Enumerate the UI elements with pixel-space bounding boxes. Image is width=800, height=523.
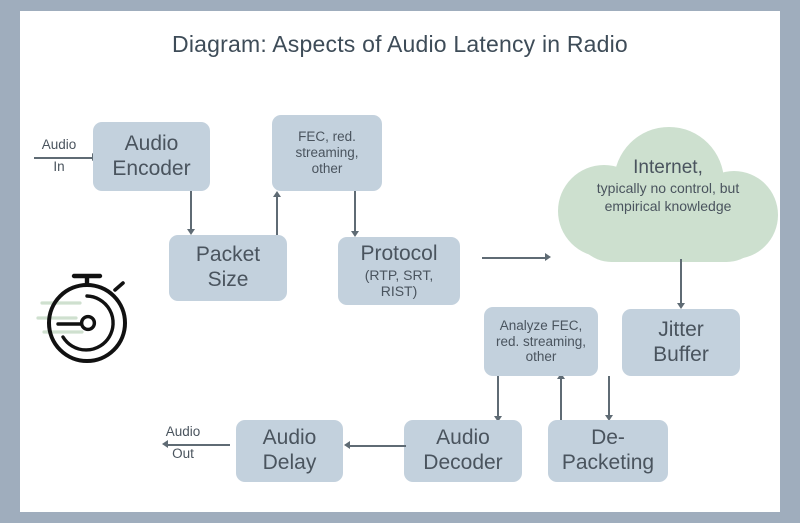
cloud-text: Internet, typically no control, but empi… [558,157,778,215]
connector-analyzefec-to-audiodecoder [497,376,499,418]
audio-in-label: Audio [31,137,87,153]
diagram-frame: Diagram: Aspects of Audio Latency in Rad… [0,0,800,523]
analyze-fec-line1: Analyze FEC, [500,318,583,334]
node-audio-encoder[interactable]: Audio Encoder [93,122,210,191]
audio-encoder-line1: Audio [125,132,179,157]
protocol-line2: (RTP, SRT, [365,267,433,284]
connector-audiodecoder-to-audiodelay [350,445,406,447]
node-internet-cloud[interactable]: Internet, typically no control, but empi… [558,127,778,262]
arrowhead-audiodecoder-to-audiodelay [344,441,350,449]
audio-out-label-2: Out [155,446,211,462]
audio-in-label-2: In [31,159,87,175]
connector-fec-to-protocol [354,191,356,233]
audio-delay-line2: Delay [263,451,317,476]
connector-jitterbuffer-to-depacketing [608,376,610,417]
audio-delay-line1: Audio [263,426,317,451]
analyze-fec-line2: red. streaming, [496,334,586,350]
audio-out-line2: Out [155,446,211,462]
node-jitter-buffer[interactable]: Jitter Buffer [622,309,740,376]
connector-depacketing-to-analyzefec [560,379,562,420]
de-packeting-line1: De- [591,426,625,451]
node-fec-options[interactable]: FEC, red. streaming, other [272,115,382,191]
page-title: Diagram: Aspects of Audio Latency in Rad… [20,31,780,58]
node-audio-decoder[interactable]: Audio Decoder [404,420,522,482]
connector-protocol-to-internet [482,257,546,259]
jitter-buffer-line2: Buffer [653,343,709,368]
analyze-fec-line3: other [526,349,557,365]
packet-size-line2: Size [208,268,249,293]
arrowhead-protocol-to-internet [545,253,551,261]
node-analyze-fec[interactable]: Analyze FEC, red. streaming, other [484,307,598,376]
internet-line3: empirical knowledge [558,197,778,215]
audio-out-label: Audio [155,424,211,440]
protocol-line1: Protocol [360,242,437,267]
internet-line2: typically no control, but [558,179,778,197]
de-packeting-line2: Packeting [562,451,654,476]
stopwatch-icon [34,263,144,378]
fec-options-line1: FEC, red. [298,129,356,145]
protocol-line3: RIST) [381,283,418,300]
connector-packetsize-to-fec [276,197,278,235]
packet-size-line1: Packet [196,243,260,268]
audio-decoder-line2: Decoder [423,451,502,476]
diagram-canvas: Diagram: Aspects of Audio Latency in Rad… [20,11,780,512]
audio-decoder-line1: Audio [436,426,490,451]
audio-in-line2: In [31,159,87,175]
node-protocol[interactable]: Protocol (RTP, SRT, RIST) [338,237,460,305]
node-audio-delay[interactable]: Audio Delay [236,420,343,482]
fec-options-line2: streaming, [295,145,358,161]
connector-encoder-to-packetsize [190,191,192,231]
fec-options-line3: other [312,161,343,177]
internet-line1: Internet, [558,157,778,179]
audio-in-line1: Audio [31,137,87,153]
node-de-packeting[interactable]: De- Packeting [548,420,668,482]
node-packet-size[interactable]: Packet Size [169,235,287,301]
connector-internet-to-jitterbuffer [680,259,682,305]
arrowhead-packetsize-to-fec [273,191,281,197]
audio-encoder-line2: Encoder [112,157,190,182]
jitter-buffer-line1: Jitter [658,318,704,343]
audio-out-line1: Audio [155,424,211,440]
